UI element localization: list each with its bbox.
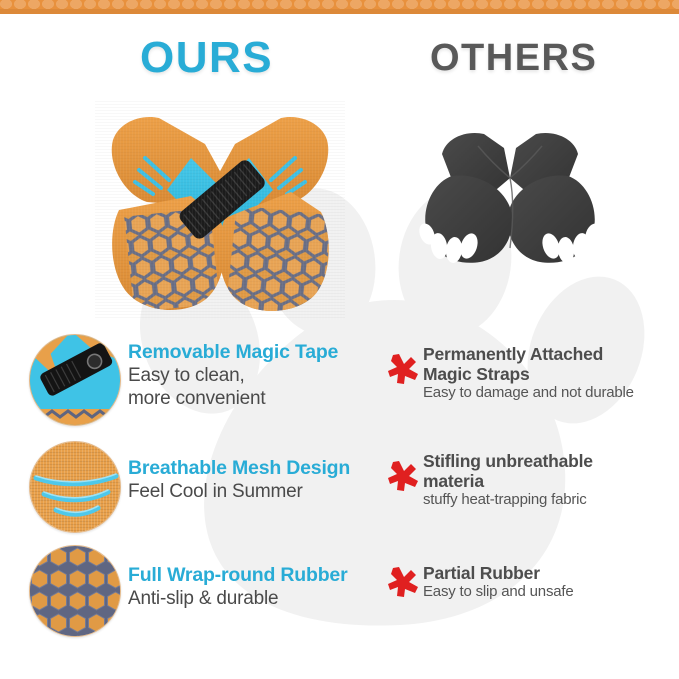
others-feature-title-line2: Magic Straps bbox=[423, 364, 673, 384]
others-feature-text: Stifling unbreathable materia stuffy hea… bbox=[423, 451, 673, 509]
thumb-honeycomb-rubber bbox=[29, 545, 121, 637]
top-honeycomb-band bbox=[0, 0, 679, 14]
thumb-mesh-knit bbox=[29, 441, 121, 533]
red-x-icon bbox=[386, 459, 420, 493]
honeycomb-band-shade bbox=[0, 9, 679, 14]
others-feature-title-line1: Partial Rubber bbox=[423, 563, 673, 583]
others-feature-title-line2: materia bbox=[423, 471, 673, 491]
red-x-icon bbox=[386, 352, 420, 386]
feature-row: Full Wrap-round Rubber Anti-slip & durab… bbox=[0, 541, 679, 641]
ours-product-photo bbox=[95, 100, 345, 320]
others-feature-text: Partial Rubber Easy to slip and unsafe bbox=[423, 563, 673, 601]
red-x-icon bbox=[386, 565, 420, 599]
ours-feature-subtitle-line2: more convenient bbox=[128, 387, 383, 410]
others-feature-subtitle: stuffy heat-trapping fabric bbox=[423, 491, 673, 509]
thumb-velcro-strap bbox=[29, 334, 121, 426]
ours-feature-title: Removable Magic Tape bbox=[128, 340, 383, 364]
others-feature-subtitle: Easy to damage and not durable bbox=[423, 384, 673, 402]
feature-row: Breathable Mesh Design Feel Cool in Summ… bbox=[0, 437, 679, 537]
ours-feature-title: Breathable Mesh Design bbox=[128, 456, 383, 480]
ours-feature-subtitle-line1: Easy to clean, bbox=[128, 364, 383, 387]
ours-feature-subtitle-line1: Feel Cool in Summer bbox=[128, 480, 383, 503]
others-feature-text: Permanently Attached Magic Straps Easy t… bbox=[423, 344, 673, 402]
feature-row: Removable Magic Tape Easy to clean, more… bbox=[0, 330, 679, 430]
others-product-photo bbox=[418, 128, 603, 293]
others-feature-title-line1: Permanently Attached bbox=[423, 344, 673, 364]
others-feature-title-line1: Stifling unbreathable bbox=[423, 451, 673, 471]
ours-feature-text: Breathable Mesh Design Feel Cool in Summ… bbox=[128, 456, 383, 503]
page-title-ours: OURS bbox=[140, 33, 273, 83]
others-feature-subtitle: Easy to slip and unsafe bbox=[423, 583, 673, 601]
ours-feature-subtitle-line1: Anti-slip & durable bbox=[128, 587, 383, 610]
ours-feature-text: Removable Magic Tape Easy to clean, more… bbox=[128, 340, 383, 410]
ours-feature-title: Full Wrap-round Rubber bbox=[128, 563, 383, 587]
page-title-others: OTHERS bbox=[430, 37, 597, 80]
ours-feature-text: Full Wrap-round Rubber Anti-slip & durab… bbox=[128, 563, 383, 610]
